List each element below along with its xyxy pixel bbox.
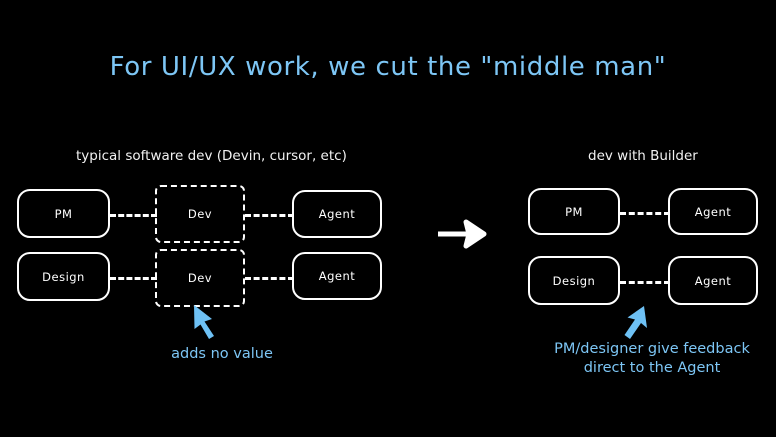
left-node-agent-row2: Agent	[292, 252, 382, 300]
right-node-agent-row2: Agent	[668, 256, 758, 305]
left-annotation-text: adds no value	[132, 345, 312, 364]
connector-pm-dev	[110, 214, 157, 217]
left-node-dev-row1: Dev	[155, 185, 245, 243]
page-title: For UI/UX work, we cut the "middle man"	[0, 52, 776, 82]
connector-design-agent	[620, 281, 670, 284]
connector-design-dev	[110, 277, 157, 280]
left-node-agent-row1: Agent	[292, 190, 382, 238]
arrow-right-icon	[437, 217, 489, 251]
right-flow-caption: dev with Builder	[588, 148, 698, 164]
left-node-dev-row2: Dev	[155, 249, 245, 307]
right-annotation-text: PM/designer give feedback direct to the …	[528, 340, 776, 378]
left-flow-caption: typical software dev (Devin, cursor, etc…	[76, 148, 347, 164]
right-annotation-line-2: direct to the Agent	[528, 359, 776, 378]
right-node-design: Design	[528, 256, 620, 305]
right-node-agent-row1: Agent	[668, 188, 758, 235]
connector-dev-agent-row1	[245, 214, 294, 217]
connector-dev-agent-row2	[245, 277, 294, 280]
arrow-up-right-icon	[618, 304, 652, 342]
arrow-up-left-icon	[190, 303, 230, 341]
left-node-design: Design	[17, 252, 110, 301]
left-node-pm: PM	[17, 189, 110, 238]
connector-pm-agent	[620, 212, 670, 215]
right-annotation-line-1: PM/designer give feedback	[528, 340, 776, 359]
slide-canvas: For UI/UX work, we cut the "middle man" …	[0, 0, 776, 437]
right-node-pm: PM	[528, 188, 620, 235]
